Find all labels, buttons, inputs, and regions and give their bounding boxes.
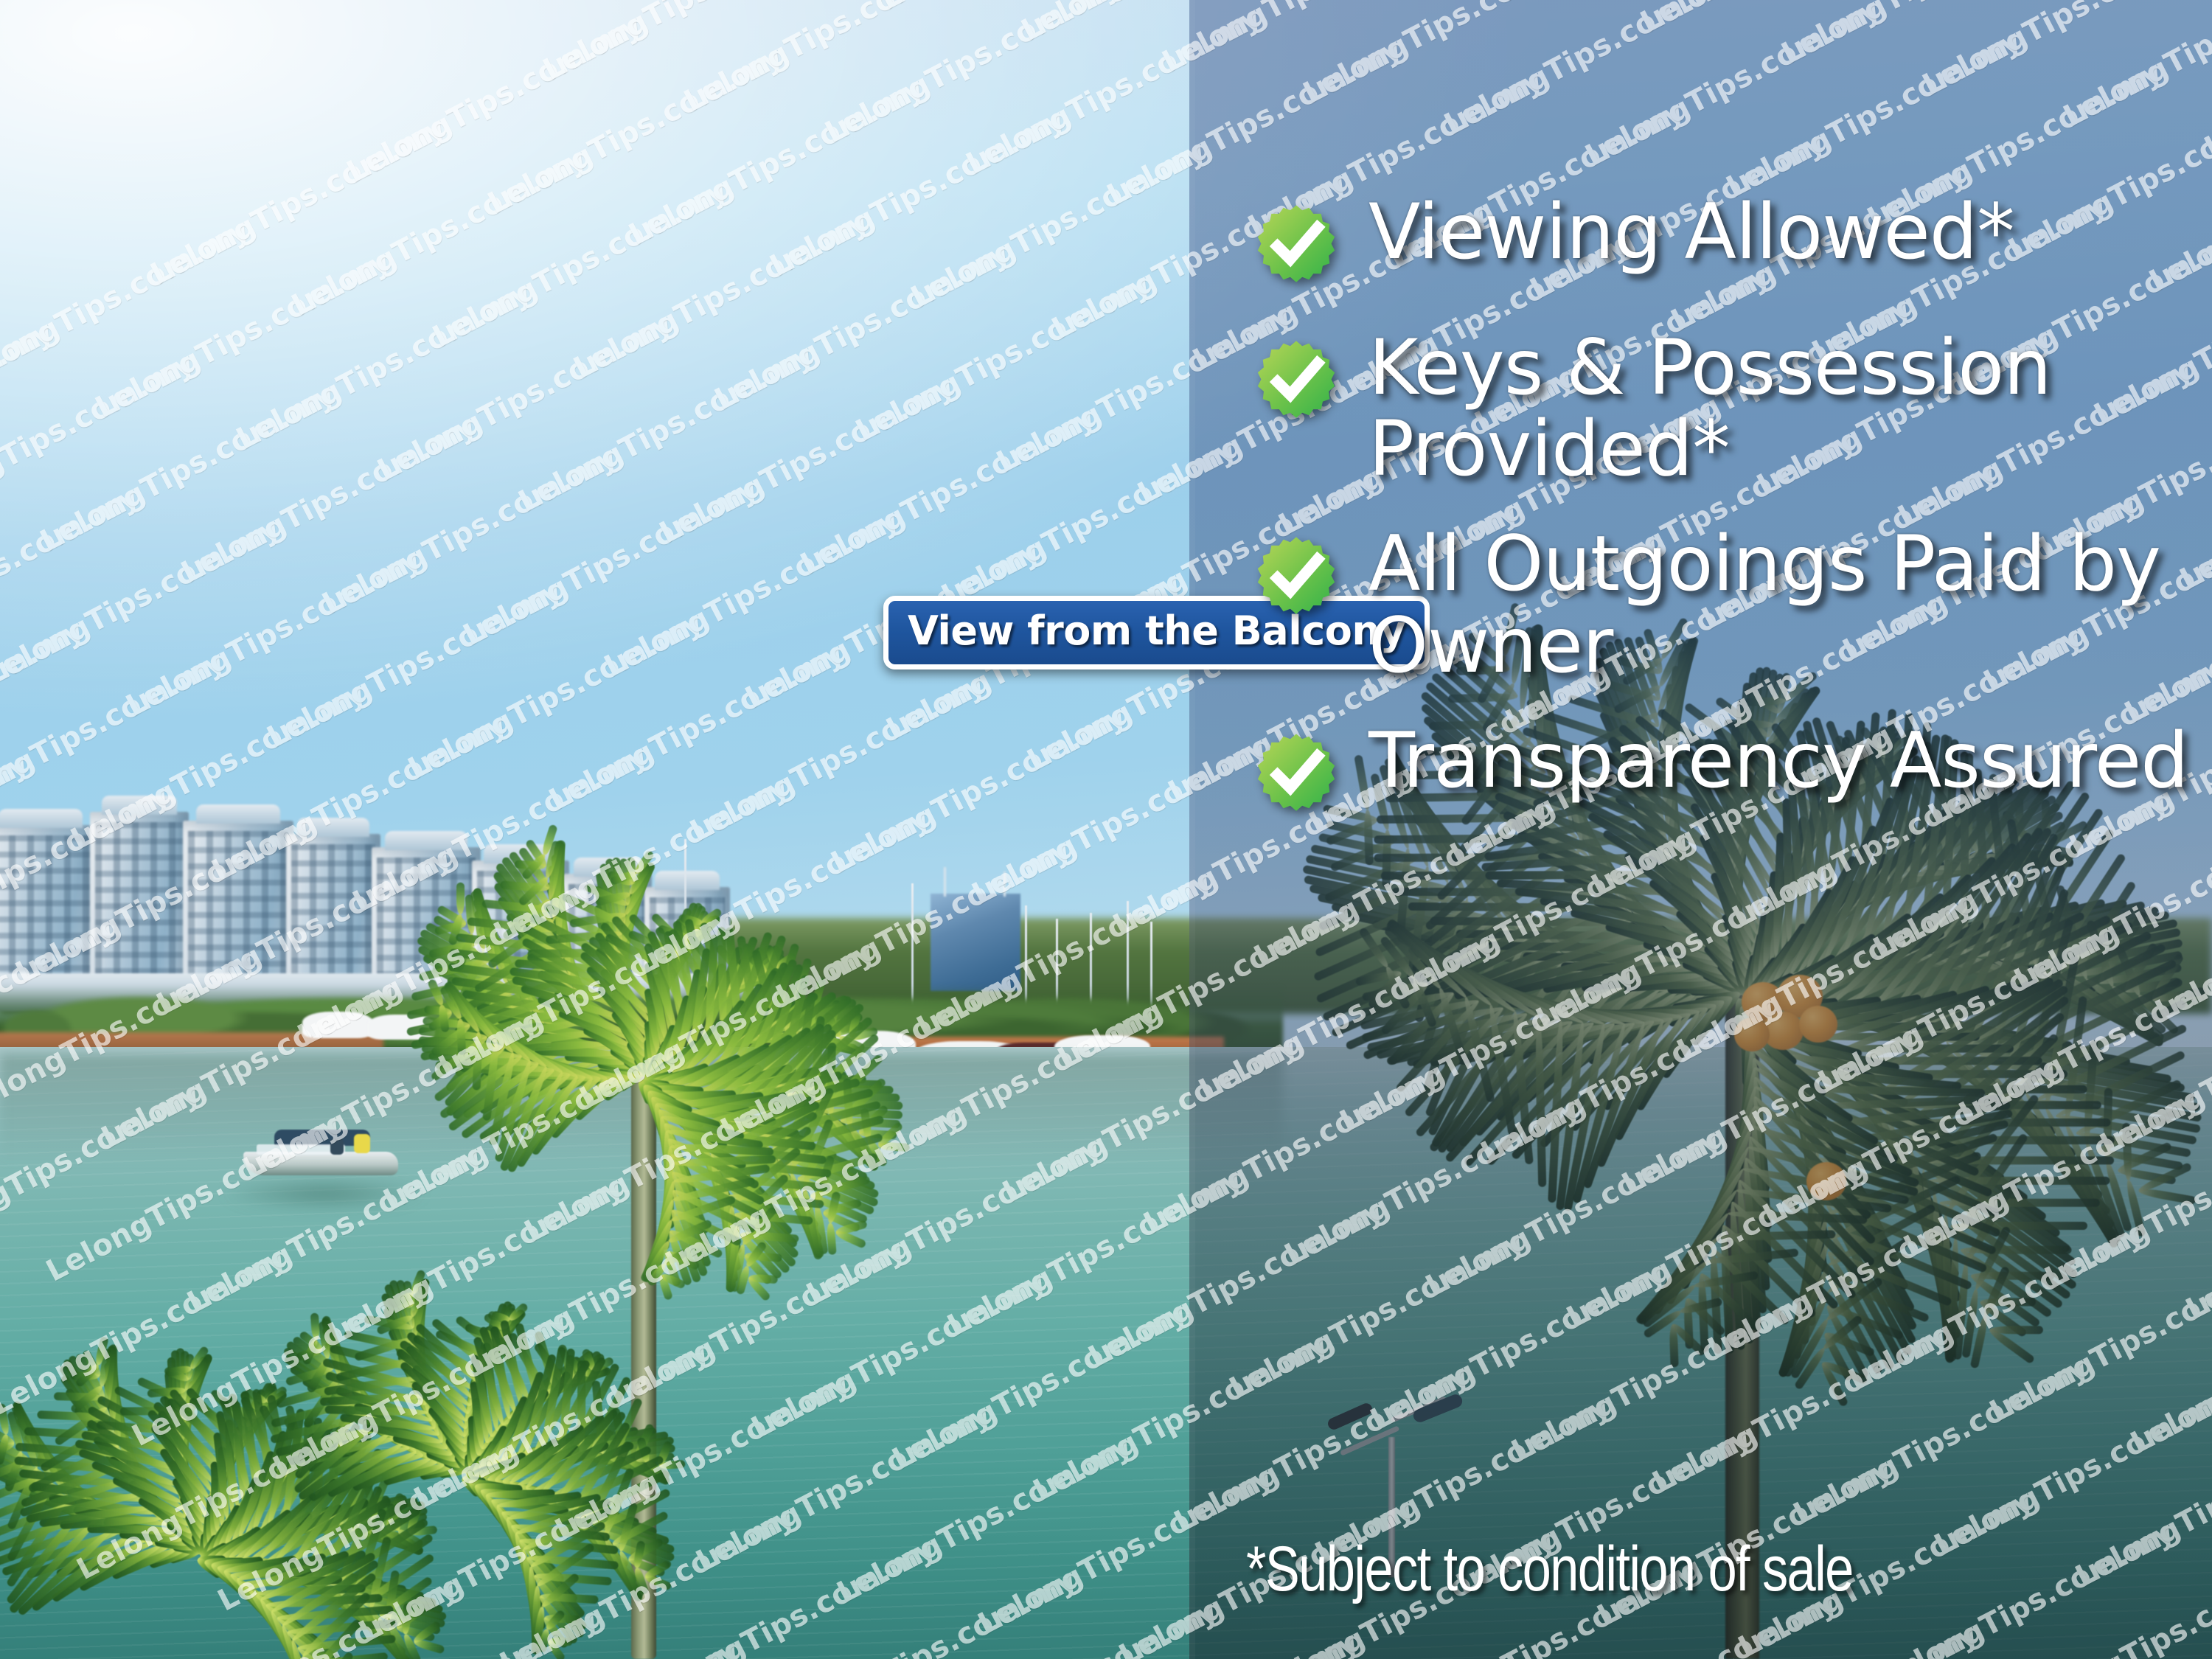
tint-edge-highlight	[1189, 0, 1195, 1659]
green-check-badge-icon	[1253, 204, 1339, 289]
feature-item-keys-possession: Keys & Possession Provided*	[1253, 327, 2212, 490]
feature-item-outgoings-paid: All Outgoings Paid by Owner	[1253, 524, 2212, 686]
footnote-subject-to-condition: *Subject to condition of sale	[1246, 1537, 1853, 1601]
boat-hull	[243, 1152, 398, 1175]
feature-label: All Outgoings Paid by Owner	[1368, 524, 2212, 686]
boat-wake	[221, 1177, 428, 1211]
feature-label: Viewing Allowed*	[1368, 192, 2014, 273]
feature-label: Transparency Assured	[1368, 720, 2188, 801]
marketing-image-canvas: LelongTips.com.myLelongTips.com.myLelong…	[0, 0, 2212, 1659]
fan-palm-fronds	[0, 1335, 693, 1659]
pier-boat	[302, 1012, 373, 1038]
green-check-badge-icon	[1253, 535, 1339, 621]
feature-label: Keys & Possession Provided*	[1368, 327, 2212, 490]
green-check-badge-icon	[1253, 339, 1339, 425]
foreground-fan-palms	[0, 1335, 693, 1659]
glass-office-tower	[931, 894, 1020, 991]
motorboat	[243, 1130, 398, 1175]
feature-item-transparency-assured: Transparency Assured	[1253, 720, 2212, 818]
green-check-badge-icon	[1253, 732, 1339, 818]
feature-list: Viewing Allowed*	[1253, 192, 2212, 856]
boat-passenger	[330, 1138, 344, 1155]
boat-passenger-yellow	[354, 1134, 370, 1153]
feature-item-viewing-allowed: Viewing Allowed*	[1253, 192, 2212, 289]
